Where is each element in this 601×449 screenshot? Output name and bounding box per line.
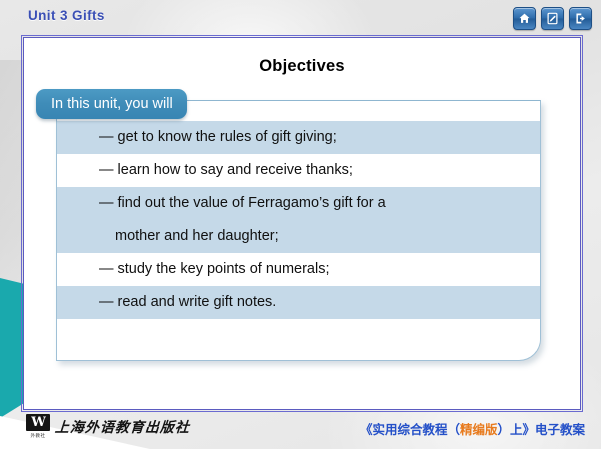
publisher-logo: W 外教社 上海外语教育出版社 bbox=[26, 414, 190, 440]
publisher-emblem-icon: W 外教社 bbox=[26, 414, 50, 440]
slide-footer: W 外教社 上海外语教育出版社 《实用综合教程（精编版）上》电子教案 bbox=[0, 408, 601, 449]
exit-icon bbox=[574, 12, 587, 25]
list-item: — learn how to say and receive thanks; bbox=[57, 154, 540, 187]
publisher-emblem-sub: 外教社 bbox=[31, 433, 46, 439]
home-icon bbox=[518, 12, 531, 25]
slide-header: Unit 3 Gifts bbox=[0, 0, 601, 36]
content-panel: Objectives In this unit, you will — get … bbox=[23, 37, 581, 410]
home-button[interactable] bbox=[513, 7, 536, 30]
edit-document-icon bbox=[546, 12, 559, 25]
edit-document-button[interactable] bbox=[541, 7, 564, 30]
objectives-heading: Objectives bbox=[24, 57, 580, 76]
list-item: — read and write gift notes. bbox=[57, 286, 540, 319]
card-spacer-bottom bbox=[57, 319, 540, 351]
objectives-card: — get to know the rules of gift giving; … bbox=[56, 100, 541, 361]
list-item-continuation: mother and her daughter; bbox=[57, 220, 540, 253]
list-item: — get to know the rules of gift giving; bbox=[57, 121, 540, 154]
course-credit-suffix: 电子教案 bbox=[535, 422, 585, 437]
unit-intro-tab: In this unit, you will bbox=[36, 89, 187, 119]
slide-root: Unit 3 Gifts bbox=[0, 0, 601, 449]
publisher-emblem-letter: W bbox=[26, 414, 50, 431]
list-item: — study the key points of numerals; bbox=[57, 253, 540, 286]
list-item: — find out the value of Ferragamo’s gift… bbox=[57, 187, 540, 220]
course-credit: 《实用综合教程（精编版）上》电子教案 bbox=[360, 419, 585, 438]
nav-button-group bbox=[513, 7, 592, 30]
page-title: Unit 3 Gifts bbox=[28, 8, 105, 23]
publisher-name: 上海外语教育出版社 bbox=[54, 417, 190, 437]
course-credit-highlight: 精编版 bbox=[460, 422, 498, 437]
course-credit-prefix: 《实用综合教程（ bbox=[360, 422, 460, 437]
exit-button[interactable] bbox=[569, 7, 592, 30]
course-credit-middle: ）上》 bbox=[497, 422, 535, 437]
